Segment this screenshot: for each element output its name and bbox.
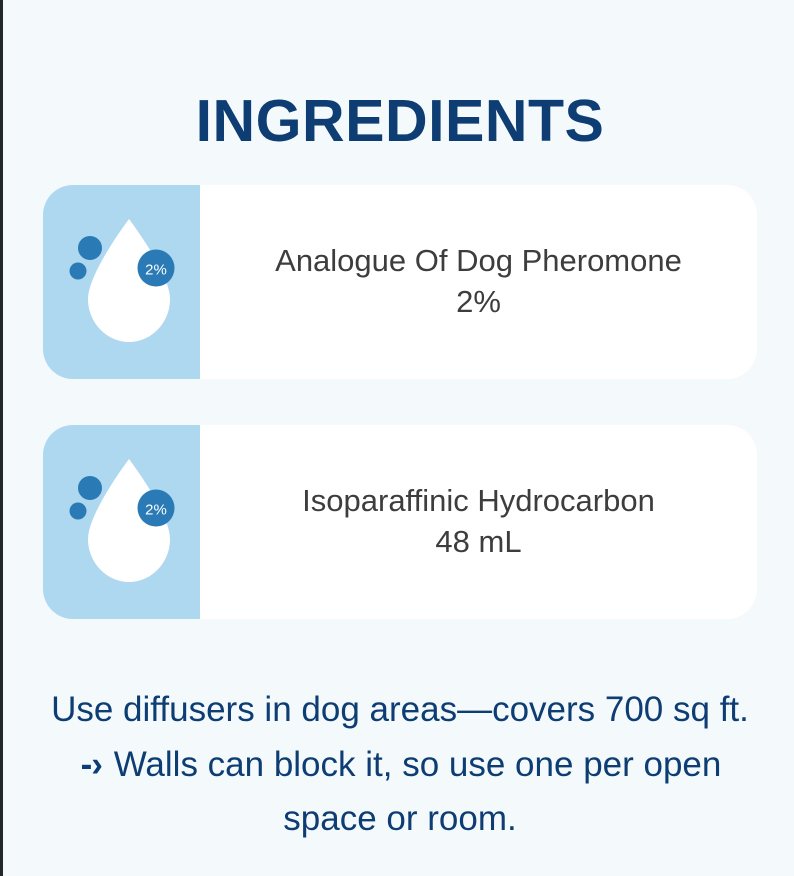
ingredient-icon-panel: 2% xyxy=(43,185,200,379)
ingredient-badge-label: 2% xyxy=(145,262,167,279)
usage-note-line-2-before: sq ft. xyxy=(673,690,749,729)
usage-note-line-2-after: Walls can block it, so use one xyxy=(114,745,574,784)
ingredient-badge-label: 2% xyxy=(145,502,167,519)
water-droplet-icon: 2% xyxy=(66,211,178,353)
page-title: INGREDIENTS xyxy=(3,92,794,151)
ingredient-card: 2% Isoparaffinic Hydrocarbon 48 mL xyxy=(43,425,757,619)
water-droplet-icon: 2% xyxy=(66,451,178,593)
usage-note: Use diffusers in dog areas—covers 700 sq… xyxy=(43,683,757,847)
ingredient-amount: 48 mL xyxy=(435,522,521,563)
ingredient-card: 2% Analogue Of Dog Pheromone 2% xyxy=(43,185,757,379)
ingredient-amount: 2% xyxy=(456,282,501,323)
ingredient-name: Analogue Of Dog Pheromone xyxy=(275,241,682,282)
usage-note-line-1: Use diffusers in dog areas—covers 700 xyxy=(51,690,663,729)
ingredients-page: INGREDIENTS 2% Analogue Of Dog Pheromone… xyxy=(0,0,794,876)
ingredient-text-block: Analogue Of Dog Pheromone 2% xyxy=(200,185,757,379)
ingredient-icon-panel: 2% xyxy=(43,425,200,619)
arrow-right-icon: ‑› xyxy=(79,738,104,793)
ingredient-text-block: Isoparaffinic Hydrocarbon 48 mL xyxy=(200,425,757,619)
ingredient-name: Isoparaffinic Hydrocarbon xyxy=(302,481,655,522)
